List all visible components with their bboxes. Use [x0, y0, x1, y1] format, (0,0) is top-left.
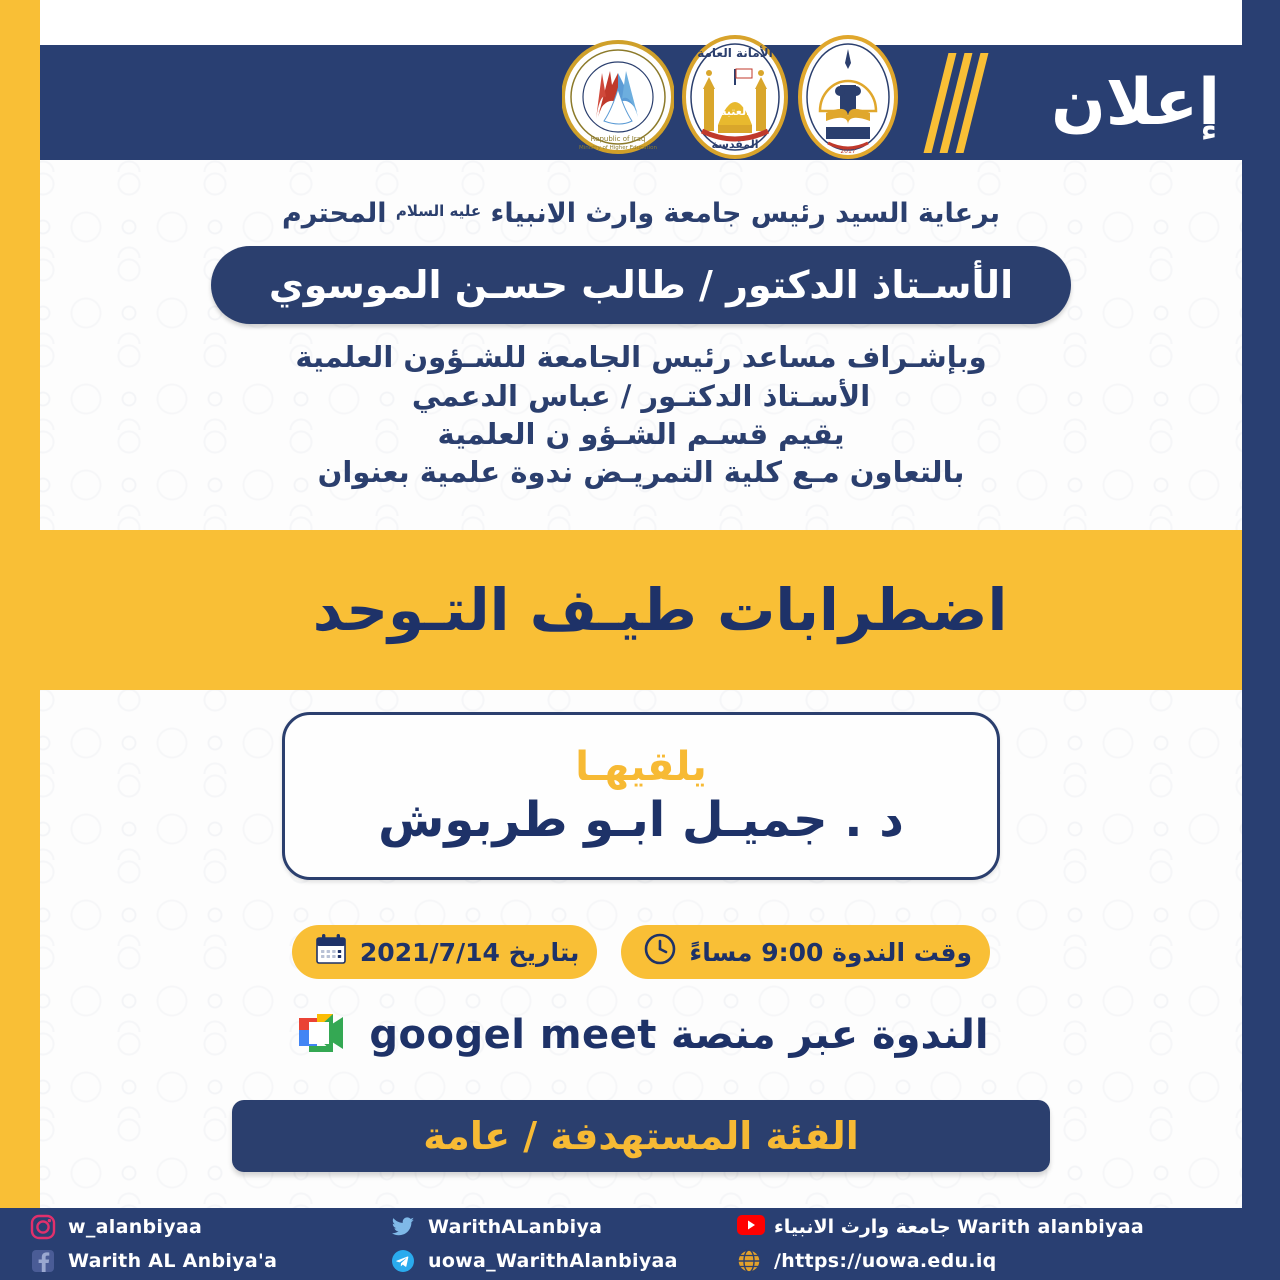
- clock-icon: [643, 932, 677, 972]
- telegram-icon: [390, 1248, 416, 1274]
- warith-al-anbiya-university-logo: 2017: [796, 33, 900, 165]
- speaker-box: يلقيهـا د . جميـل ابـو طربوش: [282, 712, 1000, 880]
- calendar-icon: [314, 932, 348, 972]
- date-text: بتاريخ 2021/7/14: [360, 938, 580, 967]
- al-abbas-holy-shrine-logo: الأمانة العامة العتبة المقدسة: [680, 33, 790, 165]
- social-youtube[interactable]: جامعة وارث الانبياء Warith alanbiyaa: [736, 1214, 1280, 1240]
- poster-body: برعاية السيد رئيس جامعة وارث الانبياء عل…: [40, 160, 1242, 1208]
- twitter-handle: WarithALanbiya: [428, 1216, 602, 1238]
- right-navy-border: [1242, 0, 1280, 1280]
- svg-text:Republic of Iraq: Republic of Iraq: [591, 135, 646, 143]
- supervision-line-3: يقيم قسـم الشـؤو ن العلمية: [40, 415, 1242, 453]
- president-name-badge: الأسـتاذ الدكتور / طالب حسـن الموسوي: [211, 246, 1071, 324]
- left-yellow-border: [0, 0, 40, 1280]
- footer-social-bar: w_alanbiyaa Warith AL Anbiya'a: [0, 1208, 1280, 1280]
- youtube-icon: [736, 1214, 762, 1240]
- facebook-icon: [30, 1248, 56, 1274]
- diagonal-stripes-decoration: [910, 53, 980, 153]
- president-name: الأسـتاذ الدكتور / طالب حسـن الموسوي: [269, 263, 1013, 307]
- footer-column-2: WarithALanbiya uowa_WarithAlanbiyaa: [390, 1208, 736, 1280]
- supervision-line-4: بالتعاون مـع كلية التمريـض ندوة علمية بع…: [40, 453, 1242, 491]
- instagram-icon: [30, 1214, 56, 1240]
- social-twitter[interactable]: WarithALanbiya: [390, 1214, 736, 1240]
- patronage-text: برعاية السيد رئيس جامعة وارث الانبياء: [491, 198, 1001, 229]
- date-pill: بتاريخ 2021/7/14: [292, 925, 598, 979]
- website-globe-icon: [736, 1248, 762, 1274]
- telegram-handle: uowa_WarithAlanbiyaa: [428, 1250, 678, 1272]
- logo-group: 2017 الأمانة العامة: [562, 33, 900, 165]
- svg-text:الأمانة العامة: الأمانة العامة: [697, 45, 773, 60]
- svg-text:2017: 2017: [840, 148, 855, 155]
- poster-header: إعلان 2017: [40, 45, 1280, 160]
- twitter-icon: [390, 1214, 416, 1240]
- speaker-name: د . جميـل ابـو طربوش: [378, 792, 904, 848]
- footer-column-1: w_alanbiyaa Warith AL Anbiya'a: [30, 1208, 390, 1280]
- website-link[interactable]: /https://uowa.edu.iq: [736, 1248, 1280, 1274]
- supervision-line-1: وبإشـراف مساعد رئيس الجامعة للشـؤون العل…: [40, 338, 1242, 376]
- social-telegram[interactable]: uowa_WarithAlanbiyaa: [390, 1248, 736, 1274]
- speaker-label: يلقيهـا: [575, 744, 707, 790]
- facebook-handle: Warith AL Anbiya'a: [68, 1250, 277, 1272]
- target-audience-bar: الفئة المستهدفة / عامة: [232, 1100, 1050, 1172]
- platform-row: الندوة عبر منصة googel meet: [40, 1008, 1242, 1062]
- seminar-title-band: اضطرابات طيـف التـوحد: [40, 530, 1280, 690]
- page-title: إعلان: [1051, 71, 1220, 135]
- ministry-higher-education-iraq-logo: Republic of Iraq Ministry of Higher Educ…: [562, 33, 674, 165]
- target-audience-text: الفئة المستهدفة / عامة: [423, 1114, 858, 1158]
- announcement-poster: إعلان 2017: [0, 0, 1280, 1280]
- details-pills-row: وقت الندوة 9:00 مساءً بتاريخ 2021/7/14: [40, 925, 1242, 979]
- patronage-line: برعاية السيد رئيس جامعة وارث الانبياء عل…: [40, 198, 1242, 230]
- patronage-suffix: المحترم: [282, 198, 387, 229]
- footer-column-3: جامعة وارث الانبياء Warith alanbiyaa /ht…: [736, 1208, 1280, 1280]
- seminar-title: اضطرابات طيـف التـوحد: [313, 576, 1008, 644]
- supervision-line-2: الأسـتاذ الدكتـور / عباس الدعمي: [40, 377, 1242, 415]
- svg-text:المقدسة: المقدسة: [711, 138, 758, 151]
- social-facebook[interactable]: Warith AL Anbiya'a: [30, 1248, 390, 1274]
- platform-text: الندوة عبر منصة googel meet: [369, 1012, 988, 1058]
- website-url: /https://uowa.edu.iq: [774, 1250, 997, 1272]
- instagram-handle: w_alanbiyaa: [68, 1216, 202, 1238]
- time-pill: وقت الندوة 9:00 مساءً: [621, 925, 990, 979]
- honorific-text: عليه السلام: [396, 202, 481, 220]
- svg-text:Ministry of Higher Education: Ministry of Higher Education: [579, 145, 658, 151]
- svg-text:العتبة: العتبة: [720, 105, 750, 118]
- social-instagram[interactable]: w_alanbiyaa: [30, 1214, 390, 1240]
- time-text: وقت الندوة 9:00 مساءً: [689, 938, 972, 967]
- supervision-block: وبإشـراف مساعد رئيس الجامعة للشـؤون العل…: [40, 338, 1242, 491]
- google-meet-icon: [293, 1008, 355, 1062]
- youtube-handle: جامعة وارث الانبياء Warith alanbiyaa: [774, 1216, 1144, 1238]
